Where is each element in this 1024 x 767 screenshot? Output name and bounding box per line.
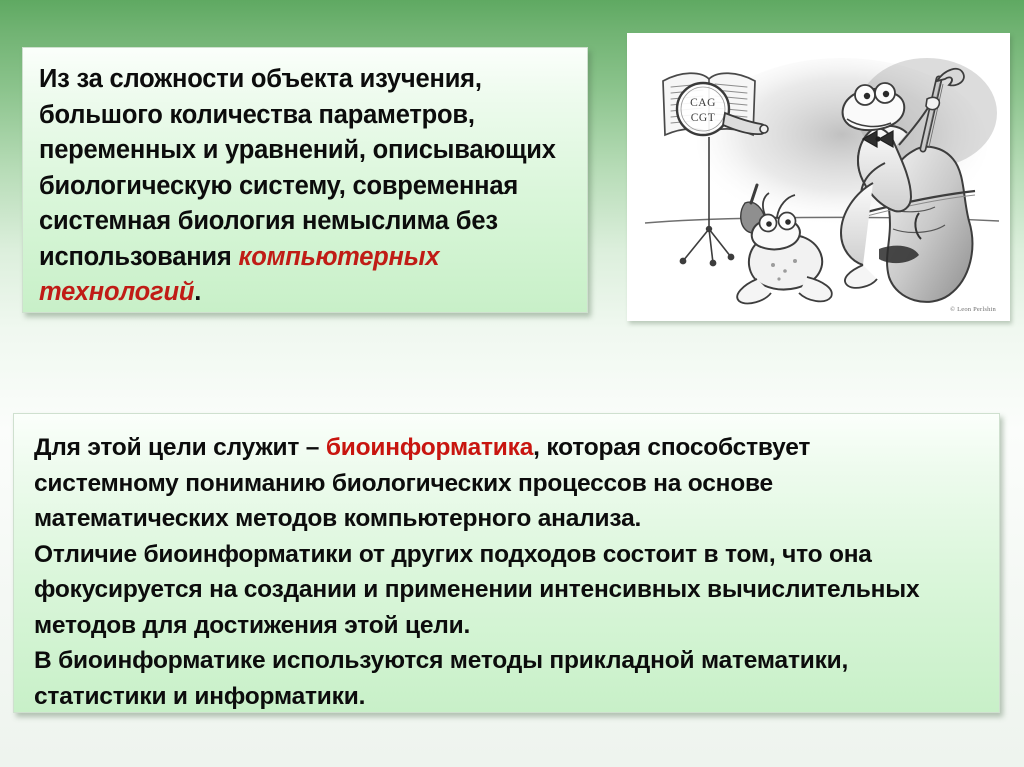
top-line-5: системная биология немыслима без [39,204,571,240]
bottom-line-2-text: системному пониманию биологических проце… [34,470,773,497]
bottom-line-1-highlight: биоинформатика [326,434,533,461]
cartoon-signature: © Leon Perlshin [950,306,996,313]
bottom-line-3: математических методов компьютерного ана… [34,501,981,537]
top-line-1: Из за сложности объекта изучения, [39,62,571,98]
top-line-6-prefix: использования [39,243,238,271]
top-line-3: переменных и уравнений, описывающих [39,133,571,169]
top-line-7-suffix: . [194,278,201,306]
bottom-line-1-suffix: , которая способствует [533,434,810,461]
cartoon-image-panel: CAG CGT [627,33,1010,321]
top-line-2: большого количества параметров, [39,98,571,134]
bottom-line-8-text: статистики и информатики. [34,683,365,710]
top-line-7-highlight: технологий [39,278,194,306]
bottom-line-1: Для этой цели служит – биоинформатика, к… [34,430,981,466]
bottom-line-2: системному пониманию биологических проце… [34,466,981,502]
bottom-line-3-text: математических методов компьютерного ана… [34,505,641,532]
bottom-line-6: методов для достижения этой цели. [34,608,981,644]
top-line-3-text: переменных и уравнений, описывающих [39,136,556,164]
frogs-cartoon-illustration: CAG CGT [627,33,1010,321]
top-line-4-text: биологическую систему, современная [39,172,518,200]
bottom-line-7: В биоинформатике используются методы при… [34,643,981,679]
bottom-line-6-text: методов для достижения этой цели. [34,612,470,639]
magnifier-sequence-line2: CGT [691,112,716,124]
bottom-line-5-text: фокусируется на создании и применении ин… [34,576,919,603]
top-text-box: Из за сложности объекта изучения, большо… [22,47,588,313]
top-line-2-text: большого количества параметров, [39,101,475,129]
bottom-line-4-text: Отличие биоинформатики от других подходо… [34,541,872,568]
top-line-6: использования компьютерных [39,240,571,276]
bottom-line-8: статистики и информатики. [34,679,981,715]
top-line-4: биологическую систему, современная [39,169,571,205]
bottom-line-1-prefix: Для этой цели служит – [34,434,326,461]
bottom-line-7-text: В биоинформатике используются методы при… [34,647,848,674]
bottom-text-box: Для этой цели служит – биоинформатика, к… [13,413,1000,713]
top-line-1-text: Из за сложности объекта изучения, [39,65,482,93]
top-line-7: технологий. [39,275,571,311]
magnifier-sequence-line1: CAG [690,97,716,109]
top-line-6-highlight: компьютерных [238,243,439,271]
top-line-5-text: системная биология немыслима без [39,207,498,235]
bottom-line-4: Отличие биоинформатики от других подходо… [34,537,981,573]
bottom-line-5: фокусируется на создании и применении ин… [34,572,981,608]
